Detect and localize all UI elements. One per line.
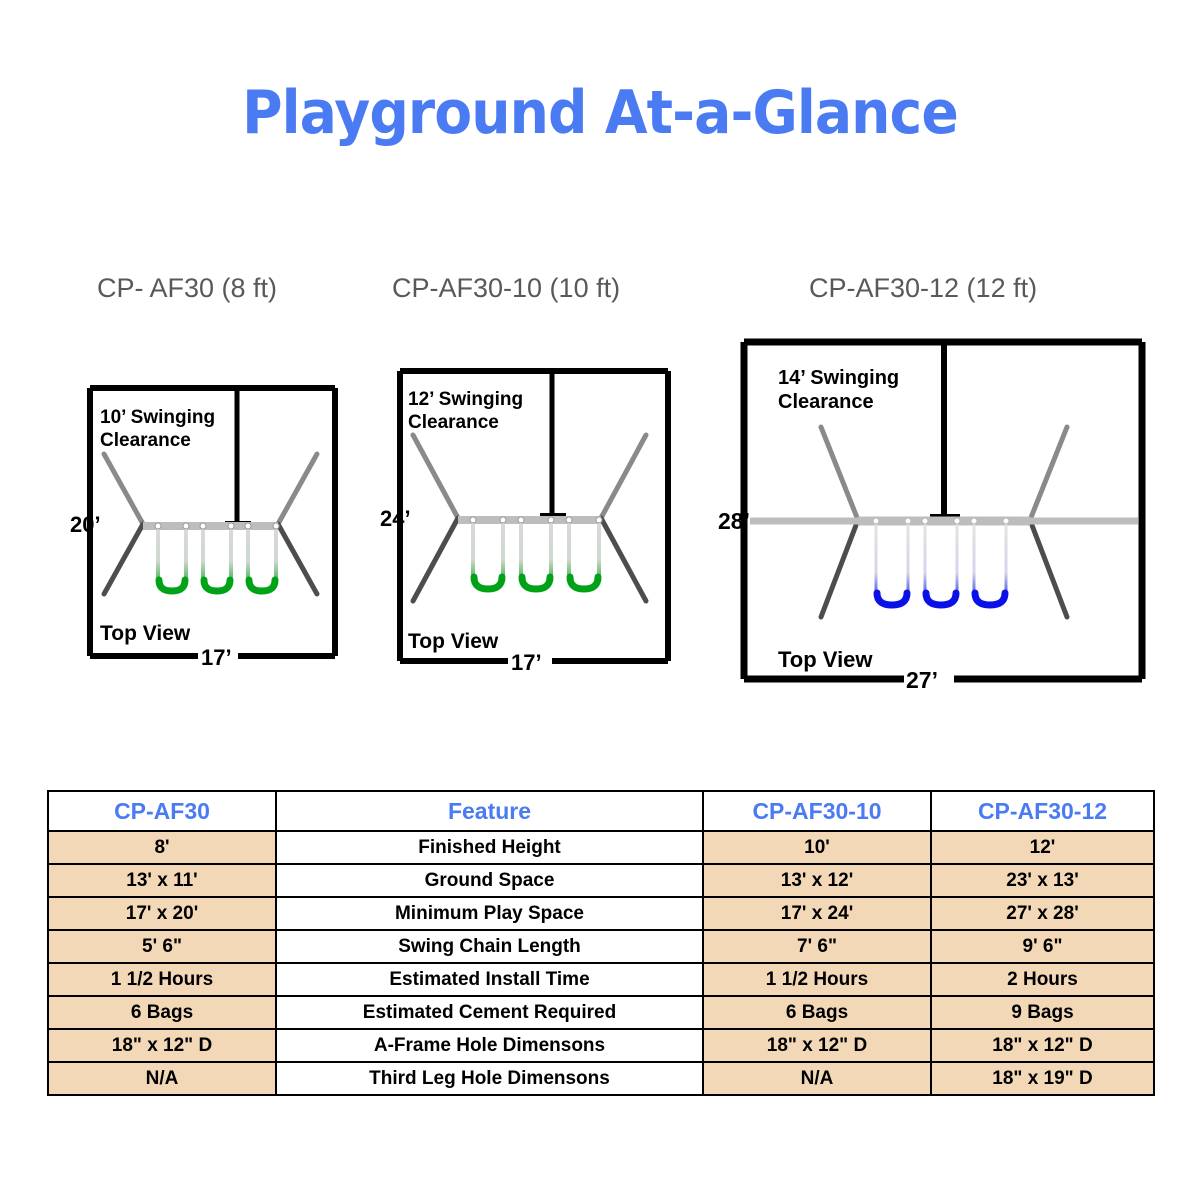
diagram-caption-cp-af30: CP- AF30 (8 ft) (97, 273, 277, 304)
page-title: Playground At-a-Glance (48, 78, 1152, 148)
cell-cp-af30-12: 2 Hours (931, 963, 1154, 996)
view-label: Top View (408, 630, 499, 653)
cell-feature: Swing Chain Length (276, 930, 703, 963)
diagram-top-view-cp-af30-10: 12’ Swinging Clearance 24’ Top View 17’ (380, 363, 680, 673)
cell-feature: A-Frame Hole Dimensons (276, 1029, 703, 1062)
cell-cp-af30-12: 27' x 28' (931, 897, 1154, 930)
cell-cp-af30-10: 13' x 12' (703, 864, 931, 897)
table-row: 18" x 12" D A-Frame Hole Dimensons 18" x… (48, 1029, 1154, 1062)
diagram-top-view-cp-af30-12: 14’ Swinging Clearance 28’ Top View 27’ (718, 334, 1158, 689)
swing-set (158, 528, 276, 592)
column-header-cp-af30-10: CP-AF30-10 (703, 791, 931, 831)
column-header-cp-af30: CP-AF30 (48, 791, 276, 831)
diagram-caption-cp-af30-10: CP-AF30-10 (10 ft) (392, 273, 620, 304)
cell-cp-af30: 17' x 20' (48, 897, 276, 930)
cell-cp-af30: 1 1/2 Hours (48, 963, 276, 996)
cell-cp-af30-10: 7' 6" (703, 930, 931, 963)
cell-cp-af30: 8' (48, 831, 276, 864)
cell-cp-af30-12: 12' (931, 831, 1154, 864)
cell-feature: Estimated Cement Required (276, 996, 703, 1029)
table-row: 8' Finished Height 10' 12' (48, 831, 1154, 864)
width-label: 17’ (511, 650, 542, 673)
cell-cp-af30-12: 9 Bags (931, 996, 1154, 1029)
column-header-feature: Feature (276, 791, 703, 831)
cell-cp-af30-12: 18" x 19" D (931, 1062, 1154, 1095)
cell-cp-af30: 18" x 12" D (48, 1029, 276, 1062)
cell-cp-af30: 5' 6" (48, 930, 276, 963)
cell-cp-af30-10: 1 1/2 Hours (703, 963, 931, 996)
depth-label: 20’ (70, 512, 101, 537)
table-row: 6 Bags Estimated Cement Required 6 Bags … (48, 996, 1154, 1029)
cell-feature: Ground Space (276, 864, 703, 897)
cell-cp-af30: 13' x 11' (48, 864, 276, 897)
cell-cp-af30-12: 9' 6" (931, 930, 1154, 963)
swing-set (876, 523, 1006, 606)
table-row: 17' x 20' Minimum Play Space 17' x 24' 2… (48, 897, 1154, 930)
cell-feature: Finished Height (276, 831, 703, 864)
clearance-label-line1: 12’ Swinging (408, 389, 523, 410)
table-row: 1 1/2 Hours Estimated Install Time 1 1/2… (48, 963, 1154, 996)
depth-label: 24’ (380, 506, 411, 531)
diagram-caption-cp-af30-12: CP-AF30-12 (12 ft) (809, 273, 1037, 304)
clearance-label-line2: Clearance (778, 391, 874, 413)
cell-cp-af30-10: 10' (703, 831, 931, 864)
diagram-top-view-cp-af30: 10’ Swinging Clearance 20’ Top View 17’ (70, 378, 350, 673)
clearance-label-line1: 14’ Swinging (778, 367, 899, 389)
clearance-label-line1: 10’ Swinging (100, 407, 215, 428)
cell-feature: Minimum Play Space (276, 897, 703, 930)
cell-cp-af30-12: 18" x 12" D (931, 1029, 1154, 1062)
cell-cp-af30: N/A (48, 1062, 276, 1095)
view-label: Top View (100, 622, 191, 645)
cell-cp-af30-10: 6 Bags (703, 996, 931, 1029)
table-row: N/A Third Leg Hole Dimensons N/A 18" x 1… (48, 1062, 1154, 1095)
clearance-label-line2: Clearance (100, 430, 191, 451)
width-label: 27’ (906, 667, 938, 689)
table-header-row: CP-AF30 Feature CP-AF30-10 CP-AF30-12 (48, 791, 1154, 831)
spec-comparison-table: CP-AF30 Feature CP-AF30-10 CP-AF30-12 8'… (47, 790, 1155, 1096)
swing-seats (474, 577, 598, 589)
width-label: 17’ (201, 645, 232, 670)
cell-cp-af30-10: 18" x 12" D (703, 1029, 931, 1062)
table-row: 13' x 11' Ground Space 13' x 12' 23' x 1… (48, 864, 1154, 897)
clearance-label-line2: Clearance (408, 412, 499, 433)
depth-label: 28’ (718, 508, 750, 534)
cell-feature: Third Leg Hole Dimensons (276, 1062, 703, 1095)
cell-cp-af30-12: 23' x 13' (931, 864, 1154, 897)
swing-seats (159, 580, 275, 591)
cell-cp-af30-10: N/A (703, 1062, 931, 1095)
column-header-cp-af30-12: CP-AF30-12 (931, 791, 1154, 831)
cell-feature: Estimated Install Time (276, 963, 703, 996)
table-row: 5' 6" Swing Chain Length 7' 6" 9' 6" (48, 930, 1154, 963)
cell-cp-af30-10: 17' x 24' (703, 897, 931, 930)
swing-set (473, 522, 599, 590)
swing-seats (877, 593, 1005, 605)
cell-cp-af30: 6 Bags (48, 996, 276, 1029)
view-label: Top View (778, 647, 873, 672)
